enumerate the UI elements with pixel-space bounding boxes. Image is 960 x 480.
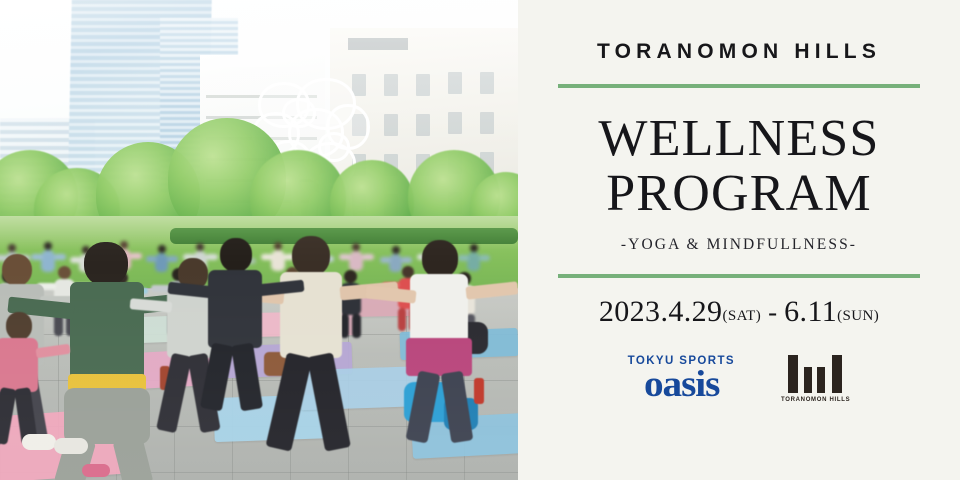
- title-line-2: PROGRAM: [598, 169, 879, 220]
- sponsor-logos: TOKYU SPORTS oasis TORANOMON HILLS: [628, 355, 851, 403]
- crowd-foreground: [0, 236, 518, 480]
- event-title: WELLNESS PROGRAM: [598, 114, 879, 220]
- divider-top: [558, 84, 920, 88]
- date-separator: -: [768, 297, 777, 328]
- wellness-program-banner: TORANOMON HILLS WELLNESS PROGRAM -YOGA &…: [0, 0, 960, 480]
- sneaker: [22, 434, 56, 450]
- sneaker: [82, 464, 110, 477]
- end-date: 6.11: [784, 295, 837, 329]
- text-panel: TORANOMON HILLS WELLNESS PROGRAM -YOGA &…: [518, 0, 960, 480]
- event-subtitle: -YOGA & MINDFULLNESS-: [621, 236, 857, 254]
- tokyu-sports-oasis-logo: TOKYU SPORTS oasis: [628, 355, 735, 402]
- toranomon-hills-logo: TORANOMON HILLS: [781, 355, 850, 403]
- divider-bottom: [558, 274, 920, 278]
- toranomon-hills-logo-text: TORANOMON HILLS: [781, 397, 850, 403]
- title-line-1: WELLNESS: [598, 114, 879, 165]
- event-dates: 2023.4.29 (SAT) - 6.11 (SUN): [599, 295, 879, 329]
- toranomon-hills-mark-icon: [788, 355, 844, 393]
- oasis-logo-wordmark: oasis: [624, 368, 738, 402]
- sneaker: [54, 438, 88, 454]
- start-day: (SAT): [722, 308, 761, 325]
- brand-name: TORANOMON HILLS: [597, 40, 881, 64]
- start-date: 2023.4.29: [599, 295, 723, 329]
- end-day: (SUN): [837, 308, 879, 325]
- event-photo: [0, 0, 518, 480]
